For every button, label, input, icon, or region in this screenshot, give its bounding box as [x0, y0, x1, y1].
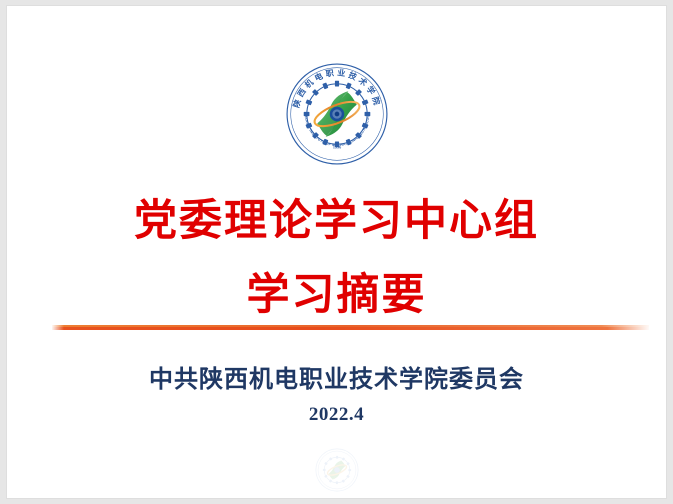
- logo-container: 陕西机电职业技术学院 SHAANXI INSTITUTE OF MECHATRO…: [7, 62, 666, 166]
- svg-text:1956: 1956: [332, 144, 340, 149]
- divider-main: [52, 327, 649, 330]
- horizontal-divider: [52, 325, 649, 330]
- title-line-2: 学习摘要: [7, 265, 666, 327]
- date-label: 2022.4: [7, 404, 666, 426]
- slide-window-frame: 陕西机电职业技术学院 SHAANXI INSTITUTE OF MECHATRO…: [0, 0, 673, 504]
- title-block: 党委理论学习中心组 学习摘要: [7, 191, 666, 327]
- seal-watermark-icon: [7, 448, 666, 492]
- subtitle-organization: 中共陕西机电职业技术学院委员会: [7, 359, 666, 394]
- title-line-1: 党委理论学习中心组: [7, 191, 666, 253]
- slide-canvas: 陕西机电职业技术学院 SHAANXI INSTITUTE OF MECHATRO…: [7, 6, 666, 498]
- university-seal-icon: 陕西机电职业技术学院 SHAANXI INSTITUTE OF MECHATRO…: [285, 62, 389, 166]
